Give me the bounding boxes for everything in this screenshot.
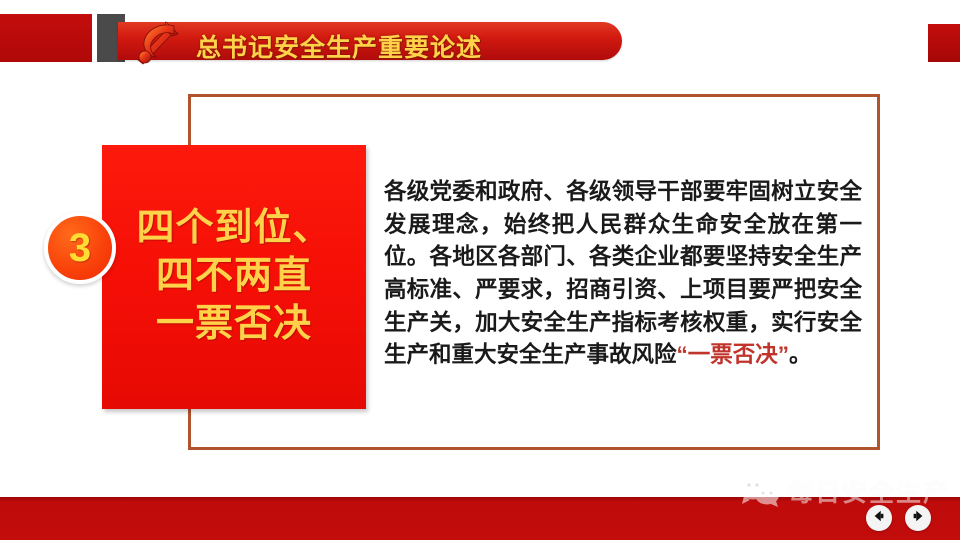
watermark: 每日安全生产: [738, 473, 950, 509]
paragraph-part-2: 。: [789, 342, 812, 367]
title-line-3: 一票否决: [156, 301, 312, 349]
step-number-label: 3: [69, 228, 91, 268]
party-emblem-hammer-sickle-icon: [130, 16, 184, 66]
paragraph-part-1: 各级党委和政府、各级领导干部要牢固树立安全发展理念，始终把人民群众生命安全放在第…: [384, 179, 862, 367]
prev-slide-button[interactable]: [866, 505, 892, 531]
next-slide-button[interactable]: [905, 505, 931, 531]
arrow-left-icon: [872, 509, 886, 528]
quote-close-mark: ”: [778, 342, 789, 367]
wechat-icon: [738, 475, 780, 507]
highlight-title-box: 四个到位、 四不两直 一票否决: [102, 145, 366, 409]
header-top-right-red-block: [928, 24, 960, 62]
arrow-right-icon: [911, 509, 925, 528]
slide-navigation: [866, 505, 931, 531]
step-number-badge: 3: [44, 212, 116, 284]
paragraph-highlight: 一票否决: [688, 342, 778, 367]
slide-canvas: 总书记安全生产重要论述 四个到位、 四不两直 一票否决 3 各级党委和政府、各级…: [0, 0, 960, 540]
quote-open-mark: “: [677, 342, 688, 367]
header-left-red-block: [0, 14, 92, 62]
watermark-label: 每日安全生产: [788, 473, 950, 509]
title-line-2: 四不两直: [156, 253, 312, 301]
body-paragraph: 各级党委和政府、各级领导干部要牢固树立安全发展理念，始终把人民群众生命安全放在第…: [384, 176, 862, 372]
page-title: 总书记安全生产重要论述: [196, 28, 482, 64]
title-line-1: 四个到位、: [136, 205, 331, 253]
